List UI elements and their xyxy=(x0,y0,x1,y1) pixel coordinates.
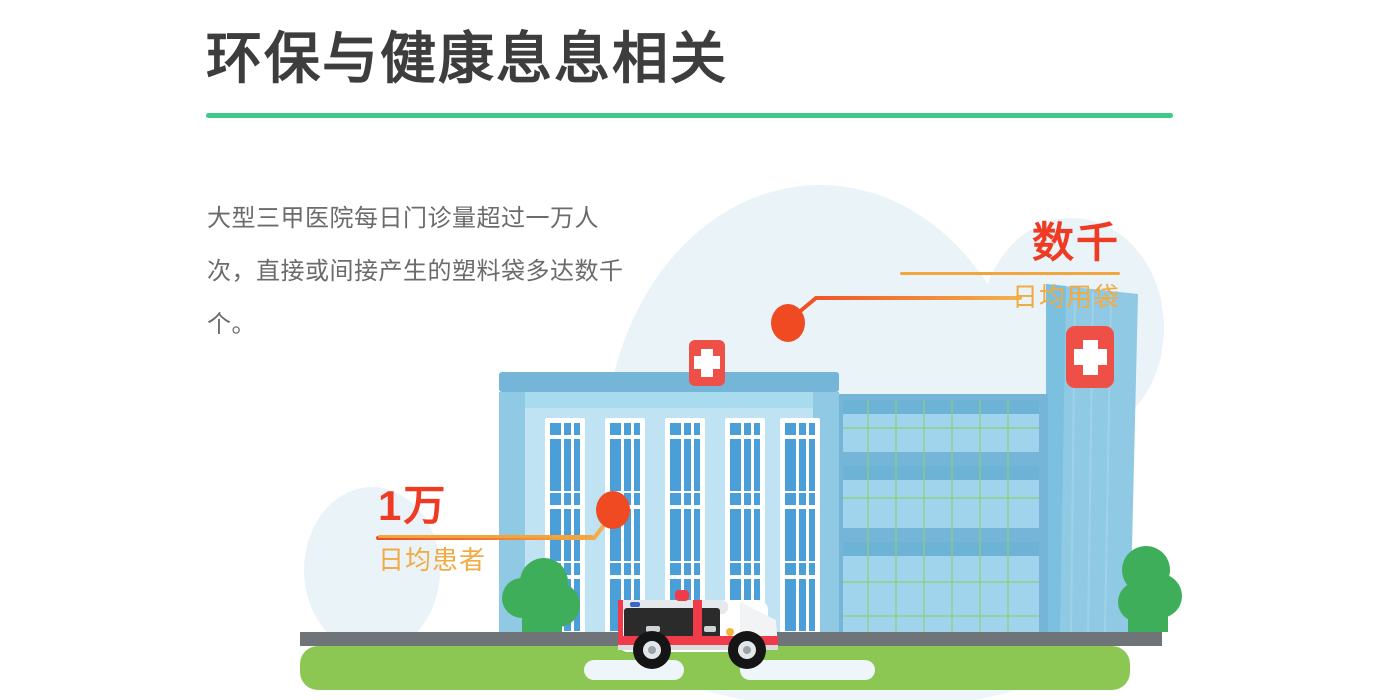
callout-daily-bags: 数千 日均用袋 xyxy=(900,222,1120,314)
page-title: 环保与健康息息相关 xyxy=(206,26,728,92)
slide-root: 环保与健康息息相关 大型三甲医院每日门诊量超过一万人次，直接或间接产生的塑料袋多… xyxy=(0,0,1400,700)
title-block: 环保与健康息息相关 xyxy=(206,26,728,92)
callout-daily-patients: 1万 日均患者 xyxy=(378,485,593,577)
title-underline-rule xyxy=(206,113,1173,118)
callout-rule xyxy=(900,272,1120,275)
red-cross-sign xyxy=(1066,326,1114,388)
callout-rule xyxy=(378,535,593,538)
glass-curtain-wall-block xyxy=(836,394,1048,640)
callout-label: 日均用袋 xyxy=(900,281,1120,314)
callout-value: 1万 xyxy=(378,485,593,527)
callout-label: 日均患者 xyxy=(378,544,593,577)
callout-marker-dot xyxy=(771,304,805,342)
callout-value: 数千 xyxy=(900,222,1120,264)
red-cross-sign xyxy=(689,340,725,386)
callout-marker-dot xyxy=(596,491,630,529)
